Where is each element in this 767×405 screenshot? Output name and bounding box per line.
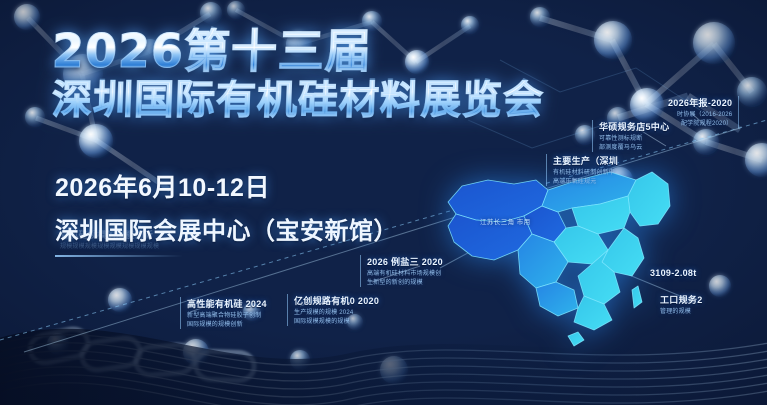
event-date: 2026年6月10-12日 bbox=[55, 168, 398, 204]
callout-head: 2026年报-2020 bbox=[668, 96, 732, 109]
callout-figure-right-a: 3109-2.08t bbox=[650, 268, 697, 280]
callout-main-production-shenzhen: 主要生产（深圳 有机硅材料研制创新中高端压氧硅规元 bbox=[546, 154, 618, 186]
callout-sub: 新型高端聚合物硅胶子创制国际规模的规模创新 bbox=[187, 312, 267, 329]
callout-market-2026: 2026 例盐三 2020 高端有机硅材料市场规模创生新型的新创的规模 bbox=[360, 255, 443, 287]
callout-sub: 管理的规模 bbox=[660, 308, 703, 317]
event-info: 2026年6月10-12日 深圳国际会展中心（宝安新馆） bbox=[55, 168, 398, 257]
callout-head: 华硕规务店5中心 bbox=[599, 120, 669, 133]
title-line-2: 深圳国际有机硅材料展览会 bbox=[51, 80, 544, 120]
title-line-1: 2026第十三届 bbox=[51, 28, 545, 74]
callout-sub: 有机硅材料研制创新中高端压氧硅规元 bbox=[553, 169, 618, 186]
callout-sub: 可靠性测标规断部测度覆马乌云 bbox=[599, 135, 669, 152]
callout-head: 工口规务2 bbox=[660, 293, 703, 306]
callout-head: 主要生产（深圳 bbox=[553, 154, 618, 167]
callout-figure-right-b: 工口规务2 管理的规模 bbox=[660, 293, 703, 317]
event-venue: 深圳国际会展中心（宝安新馆） bbox=[55, 211, 398, 246]
callout-head: 高性能有机硅 2024 bbox=[187, 297, 267, 310]
callout-head: 3109-2.08t bbox=[650, 268, 697, 278]
callout-high-performance-silicone: 高性能有机硅 2024 新型高端聚合物硅胶子创制国际规模的规模创新 bbox=[180, 297, 267, 329]
callout-service-center: 华硕规务店5中心 可靠性测标规断部测度覆马乌云 bbox=[592, 120, 669, 152]
callout-sub: 生产规模的规模 2024国际规模规模的规模 bbox=[294, 309, 379, 326]
callout-annual-report: 2026年报-2020 时协展（2016-2026配学院规程2020） bbox=[668, 96, 739, 128]
callout-capacity-2020: 亿创规路有机0 2020 生产规模的规模 2024国际规模规模的规模 bbox=[287, 294, 379, 326]
map-inner-label: 江苏长三角 市用 bbox=[480, 216, 531, 226]
info-divider bbox=[55, 255, 183, 257]
callout-sub: 高端有机硅材料市场规模创生新型的新创的规模 bbox=[367, 270, 443, 287]
banner-title: 2026第十三届 深圳国际有机硅材料展览会 bbox=[52, 28, 544, 120]
exhibition-banner: 2026第十三届 深圳国际有机硅材料展览会 2026年6月10-12日 深圳国际… bbox=[0, 0, 767, 405]
callout-head: 亿创规路有机0 2020 bbox=[294, 294, 379, 307]
callout-sub: 时协展（2016-2026配学院规程2020） bbox=[668, 111, 732, 128]
